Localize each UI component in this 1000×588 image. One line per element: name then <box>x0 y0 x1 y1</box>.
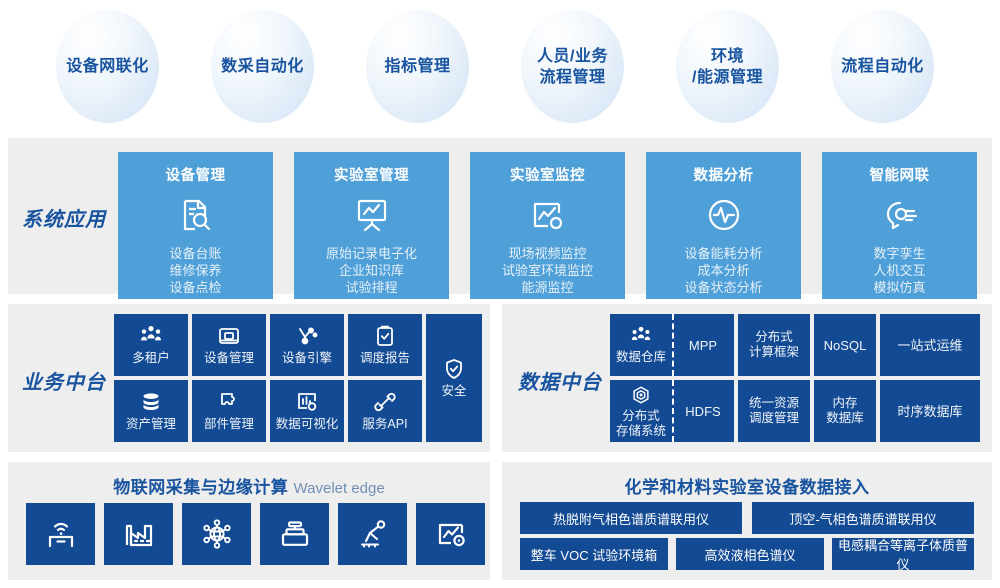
tile-service-api[interactable]: 服务API <box>348 380 422 442</box>
system-application-row-label: 系统应用 <box>22 203 106 232</box>
robot-arm-icon <box>356 517 390 551</box>
tile-hdfs[interactable]: HDFS <box>672 404 734 419</box>
lab-section-title: 化学和材料实验室设备数据接入 <box>502 473 992 498</box>
monitor-chart-icon <box>527 194 569 236</box>
bubble-label: 流程自动化 <box>841 56 924 77</box>
lab-equipment-panel: 化学和材料实验室设备数据接入 热脱附气相色谱质谱联用仪 顶空-气相色谱质谱联用仪… <box>502 462 992 580</box>
device-box-icon <box>217 324 241 348</box>
tile-label: 数据可视化 <box>276 417 339 432</box>
business-platform-row-label: 业务中台 <box>22 366 106 395</box>
tile-label: 设备管理 <box>204 351 254 366</box>
clipboard-check-icon <box>373 324 397 348</box>
tile-data-warehouse-mpp[interactable]: 数据仓库 MPP <box>610 314 734 376</box>
architecture-diagram: 设备网联化 数采自动化 指标管理 人员/业务 流程管理 环境 /能源管理 <box>0 0 1000 588</box>
tile-security[interactable]: 安全 <box>426 314 482 442</box>
dashed-divider <box>672 314 674 376</box>
tile-asset-management[interactable]: 资产管理 <box>114 380 188 442</box>
tile-label: MPP <box>672 338 734 353</box>
tile-multi-tenant[interactable]: 多租户 <box>114 314 188 376</box>
tile-label: 存储系统 <box>616 424 666 439</box>
bubble-process-automation[interactable]: 流程自动化 <box>831 10 934 123</box>
tile-label: 时序数据库 <box>897 404 962 419</box>
puzzle-icon <box>217 390 241 414</box>
bubble-label: 设备网联化 <box>66 56 149 77</box>
icon-tile-robot-arm[interactable] <box>338 503 407 565</box>
tile-label: HDFS <box>672 404 734 419</box>
tile-label: 调度管理 <box>749 411 799 426</box>
data-monitor-icon <box>434 517 468 551</box>
tile-dispatch-report[interactable]: 调度报告 <box>348 314 422 376</box>
cube-node-icon <box>630 384 652 406</box>
tile-one-stop-ops[interactable]: 一站式运维 <box>880 314 980 376</box>
business-platform-panel: 业务中台 多租户 设备管理 <box>8 304 490 452</box>
tile-component-management[interactable]: 部件管理 <box>192 380 266 442</box>
tile-label: 分布式 <box>755 330 793 345</box>
shield-check-icon <box>442 357 466 381</box>
icon-tile-factory[interactable] <box>104 503 173 565</box>
document-search-icon <box>176 194 216 236</box>
bubble-personnel-business-process[interactable]: 人员/业务 流程管理 <box>521 10 624 123</box>
multi-tenant-icon <box>630 325 652 347</box>
sysapp-card-lab-management[interactable]: 实验室管理 原始记录电子化 企业知识库 试验排程 <box>294 152 449 299</box>
tile-label: 资产管理 <box>126 417 176 432</box>
tile-label: 计算框架 <box>749 345 799 360</box>
factory-icon <box>122 517 156 551</box>
bubble-label: 数采自动化 <box>221 56 304 77</box>
equip-tile-thermal-desorption-gcms[interactable]: 热脱附气相色谱质谱联用仪 <box>520 502 742 534</box>
iot-title-text: 物联网采集与边缘计算 <box>113 478 288 497</box>
sysapp-card-title: 实验室监控 <box>510 164 585 185</box>
bubble-label: 指标管理 <box>384 56 450 77</box>
tile-label: NoSQL <box>824 338 867 353</box>
tile-label: 多租户 <box>132 351 170 366</box>
tile-data-warehouse[interactable]: 数据仓库 <box>610 325 672 365</box>
bubble-device-networking[interactable]: 设备网联化 <box>56 10 159 123</box>
tile-distributed-storage[interactable]: 分布式 存储系统 <box>610 384 672 439</box>
tile-timeseries-database[interactable]: 时序数据库 <box>880 380 980 442</box>
sysapp-card-lines: 设备台账 维修保养 设备点检 <box>169 245 221 296</box>
system-application-panel: 系统应用 设备管理 设备台账 维修保养 设备点检 <box>8 138 992 294</box>
tile-label: 数据仓库 <box>616 350 666 365</box>
api-link-icon <box>373 390 397 414</box>
sysapp-card-lines: 设备能耗分析 成本分析 设备状态分析 <box>684 245 762 296</box>
tile-label: 数据库 <box>826 411 864 426</box>
equip-tile-headspace-gcms[interactable]: 顶空-气相色谱质谱联用仪 <box>752 502 974 534</box>
sensor-device-icon <box>278 517 312 551</box>
chart-board-icon <box>295 390 319 414</box>
tile-in-memory-database[interactable]: 内存 数据库 <box>814 380 876 442</box>
tile-label: 设备引擎 <box>282 351 332 366</box>
pulse-circle-icon <box>704 194 744 236</box>
sysapp-card-title: 数据分析 <box>694 164 754 185</box>
sysapp-card-lines: 现场视频监控 试验室环境监控 能源监控 <box>502 245 593 296</box>
tile-label: 调度报告 <box>360 351 410 366</box>
wifi-gateway-icon <box>44 517 78 551</box>
sysapp-card-lines: 原始记录电子化 企业知识库 试验排程 <box>326 245 417 296</box>
iot-section-title: 物联网采集与边缘计算 Wavelet edge <box>8 473 490 498</box>
tile-label: 一站式运维 <box>897 338 962 353</box>
tile-mpp[interactable]: MPP <box>672 338 734 353</box>
equip-tile-voc-chamber[interactable]: 整车 VOC 试验环境箱 <box>520 538 668 570</box>
tile-distributed-storage-hdfs[interactable]: 分布式 存储系统 HDFS <box>610 380 734 442</box>
icon-tile-wifi-gateway[interactable] <box>26 503 95 565</box>
presentation-chart-icon <box>351 194 393 236</box>
tile-data-visualization[interactable]: 数据可视化 <box>270 380 344 442</box>
sysapp-card-title: 实验室管理 <box>334 164 409 185</box>
sysapp-card-lines: 数字孪生 人机交互 模拟仿真 <box>873 245 925 296</box>
bubble-label: 环境 /能源管理 <box>692 46 763 88</box>
tile-label: 分布式 <box>622 409 660 424</box>
multi-tenant-icon <box>139 324 163 348</box>
icon-tile-globe-network[interactable] <box>182 503 251 565</box>
sysapp-card-device-management[interactable]: 设备管理 设备台账 维修保养 设备点检 <box>118 152 273 299</box>
tile-distributed-compute-framework[interactable]: 分布式 计算框架 <box>738 314 810 376</box>
tile-label: 安全 <box>441 384 466 399</box>
sysapp-card-title: 智能网联 <box>870 164 930 185</box>
tile-label: 统一资源 <box>749 396 799 411</box>
capability-bubble-row: 设备网联化 数采自动化 指标管理 人员/业务 流程管理 环境 /能源管理 <box>0 0 1000 133</box>
tile-label: 部件管理 <box>204 417 254 432</box>
data-platform-panel: 数据中台 数据仓库 MPP 分布式 计算框架 <box>502 304 992 452</box>
iot-edge-panel: 物联网采集与边缘计算 Wavelet edge <box>8 462 490 580</box>
node-graph-icon <box>295 324 319 348</box>
tile-device-management[interactable]: 设备管理 <box>192 314 266 376</box>
ai-head-icon <box>879 194 921 236</box>
tile-nosql[interactable]: NoSQL <box>814 314 876 376</box>
icon-tile-sensor-device[interactable] <box>260 503 329 565</box>
icon-tile-data-monitor[interactable] <box>416 503 485 565</box>
tile-label: 服务API <box>362 417 407 432</box>
bubble-label: 人员/业务 流程管理 <box>537 46 608 88</box>
tile-label: 内存 <box>832 396 857 411</box>
dashed-divider <box>672 380 674 442</box>
bubble-metric-management[interactable]: 指标管理 <box>366 10 469 123</box>
equip-tile-icpms[interactable]: 电感耦合等离子体质普仪 <box>832 538 974 570</box>
sysapp-card-lab-monitoring[interactable]: 实验室监控 现场视频监控 试验室环境监控 能源监控 <box>470 152 625 299</box>
sysapp-card-title: 设备管理 <box>166 164 226 185</box>
globe-network-icon <box>200 517 234 551</box>
tile-unified-resource-scheduling[interactable]: 统一资源 调度管理 <box>738 380 810 442</box>
iot-subtitle-text: Wavelet edge <box>294 480 385 497</box>
bubble-environment-energy[interactable]: 环境 /能源管理 <box>676 10 779 123</box>
data-platform-row-label: 数据中台 <box>518 366 602 395</box>
bubble-data-collection-automation[interactable]: 数采自动化 <box>211 10 314 123</box>
sysapp-card-data-analysis[interactable]: 数据分析 设备能耗分析 成本分析 设备状态分析 <box>646 152 801 299</box>
database-yuan-icon <box>139 390 163 414</box>
sysapp-card-intelligent-network[interactable]: 智能网联 数字孪生 人机交互 模拟仿真 <box>822 152 977 299</box>
equip-tile-hplc[interactable]: 高效液相色谱仪 <box>676 538 824 570</box>
tile-device-engine[interactable]: 设备引擎 <box>270 314 344 376</box>
